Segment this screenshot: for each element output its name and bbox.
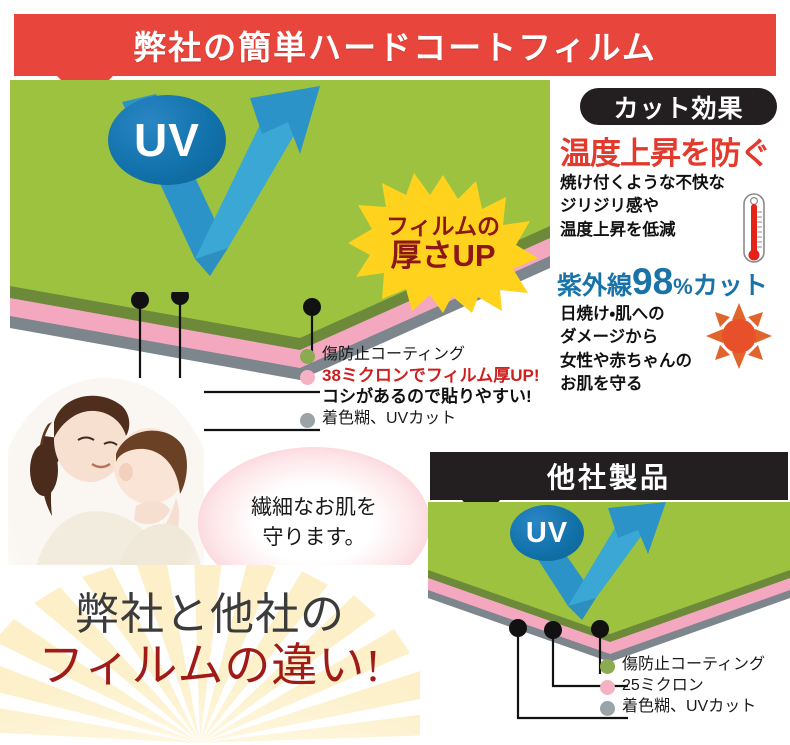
skin-bubble-line2: 守ります。 [263,523,366,553]
comp-legend-label-micron: 25ミクロン [622,676,704,695]
thermometer-icon [741,192,767,264]
legend-item-stiffness: コシがあるので貼りやすい! [322,387,540,407]
uv-cut-headline: 紫外線98%カット [557,265,789,302]
legend-item-thickness: 38ミクロンでフィルム厚UP! [300,366,540,386]
cut-effect-body-line2: ジリジリ感や [560,195,740,218]
uv-cut-body-line2: ダメージから [560,326,730,349]
footer-headline-line1: 弊社と他社の [0,592,420,638]
uv-cut-body: 日焼け・肌への ダメージから 女性や赤ちゃんの お肌を守る [560,303,730,397]
thickness-up-burst: フィルムの 厚さUP [348,173,538,313]
legend-label-thickness: 38ミクロンでフィルム厚UP! [322,366,540,386]
header-title: 弊社の簡単ハードコートフィルム [133,21,657,69]
uv-bubble-main: UV [108,95,226,185]
legend-item-adhesive: 着色糊、UVカット [300,409,540,428]
uv-cut-body-line4: お肌を守る [560,373,730,396]
skin-bubble-line1: 繊細なお肌を [251,493,377,523]
main-legend: 傷防止コーティング 38ミクロンでフィルム厚UP! コシがあるので貼りやすい! … [300,345,540,430]
legend-dot-gray-icon [300,413,315,428]
cut-effect-badge-label: カット効果 [613,89,743,125]
uv-cut-value: 98 [632,265,673,298]
cut-effect-body-line1: 焼け付くような不快な [560,172,740,195]
sun-icon [706,303,772,369]
comp-legend-dot-green-icon [600,659,615,674]
legend-item-coating: 傷防止コーティング [300,345,540,364]
cut-effect-headline-text: 温度上昇を防ぐ [560,136,770,171]
comp-legend-dot-pink-icon [600,680,615,695]
legend-dot-green-icon [300,349,315,364]
comp-legend-item-micron: 25ミクロン [600,676,765,695]
cut-effect-body-line3: 温度上昇を低減 [560,219,740,242]
uv-cut-prefix: 紫外線 [557,266,632,302]
footer-headline: 弊社と他社の フィルムの違い! [0,592,420,690]
legend-label-adhesive: 着色糊、UVカット [322,409,456,428]
uv-bubble-competitor: UV [510,505,584,561]
legend-label-stiffness: コシがあるので貼りやすい! [322,387,532,407]
uv-cut-suffix: カット [693,266,768,302]
comp-legend-item-adhesive: 着色糊、UVカット [600,697,765,716]
legend-dot-pink-icon [300,370,315,385]
infographic-root: 弊社の簡単ハードコートフィルム [0,0,790,745]
competitor-legend: 傷防止コーティング 25ミクロン 着色糊、UVカット [600,655,765,719]
comp-legend-label-adhesive: 着色糊、UVカット [622,697,756,716]
uv-bubble-competitor-label: UV [526,517,568,550]
burst-shape [348,173,538,313]
comp-legend-label-coating: 傷防止コーティング [622,655,765,674]
cut-effect-headline: 温度上昇を防ぐ [560,128,788,173]
footer-headline-line2: フィルムの違い! [0,642,420,690]
comp-legend-item-coating: 傷防止コーティング [600,655,765,674]
competitor-banner-label: 他社製品 [547,456,671,496]
header-banner: 弊社の簡単ハードコートフィルム [14,14,776,76]
cut-effect-badge: カット効果 [580,88,777,125]
uv-cut-percent: % [673,274,693,300]
comp-legend-dot-gray-icon [600,701,615,716]
competitor-banner: 他社製品 [430,452,788,500]
uv-bubble-main-label: UV [134,113,200,167]
uv-cut-body-line1: 日焼け・肌への [560,303,730,326]
cut-effect-body: 焼け付くような不快な ジリジリ感や 温度上昇を低減 [560,172,740,242]
uv-cut-body-line3: 女性や赤ちゃんの [560,350,730,373]
legend-label-coating: 傷防止コーティング [322,345,465,364]
